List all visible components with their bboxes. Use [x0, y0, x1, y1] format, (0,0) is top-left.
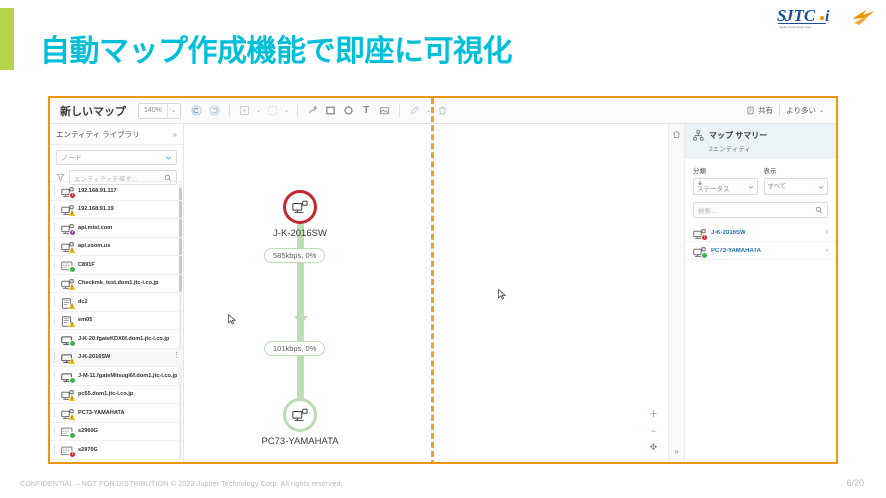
- drag-handle-icon[interactable]: [54, 242, 57, 251]
- chevron-down-icon: ⌄: [167, 104, 180, 118]
- pen-icon[interactable]: [407, 103, 422, 118]
- entity-library-title: エンティティ ライブラリ: [56, 129, 140, 140]
- entity-library-sidebar: エンティティ ライブラリ » ノード エンティティを探す... !192.168…: [50, 124, 184, 462]
- chevron-down-icon: [748, 184, 754, 190]
- text-icon[interactable]: T: [359, 103, 374, 118]
- share-button[interactable]: 共有: [740, 105, 779, 116]
- entity-list-item-label: dc2: [78, 299, 88, 305]
- entity-list-item[interactable]: 192.168.91.19: [50, 201, 183, 220]
- entity-list-item-label: C891F: [78, 262, 95, 268]
- drag-handle-icon[interactable]: [54, 205, 57, 214]
- computer-node-icon: [292, 200, 308, 215]
- entity-list-item[interactable]: s2960G: [50, 423, 183, 442]
- toolbar-divider: [229, 104, 230, 117]
- summary-rail: »: [668, 124, 684, 462]
- drag-handle-icon[interactable]: [54, 371, 57, 380]
- drag-handle-icon[interactable]: [54, 353, 57, 362]
- entity-type-value: ノード: [61, 153, 82, 163]
- map-summary-panel: マップ サマリー 2エンティティ 分類 ステータス 表示: [684, 124, 836, 462]
- map-summary-header: マップ サマリー 2エンティティ: [685, 124, 836, 159]
- chevron-down-icon: [818, 184, 824, 190]
- status-badge-green: [701, 252, 708, 259]
- drag-handle-icon[interactable]: [54, 186, 57, 195]
- entity-list-item[interactable]: C891F: [50, 256, 183, 275]
- summary-entity-label: J-K-2016SW: [711, 230, 821, 236]
- summary-entity-label: PC73-YAMAHATA: [711, 248, 821, 254]
- status-badge-warning: [68, 320, 76, 328]
- brand-logo: S JTC i Jupiter Technology Corp.: [776, 4, 876, 30]
- entity-list-item-label: J-M-11.fgateMitsugi6f.dom1.jtc-i.co.jp: [78, 373, 177, 379]
- toolbar-history-group: ⌄ ⌄ T: [189, 103, 450, 118]
- sort-select[interactable]: ステータス: [693, 178, 758, 195]
- zoom-in-button[interactable]: ＋: [647, 407, 660, 420]
- summary-search-placeholder: 検索...: [698, 205, 716, 215]
- entity-list-item-label: 192.168.91.19: [78, 206, 114, 212]
- entity-type-icon: ?: [61, 222, 74, 234]
- rectangle-icon[interactable]: [323, 103, 338, 118]
- entity-list-item[interactable]: ?api.mist.com: [50, 219, 183, 238]
- entity-type-icon: [61, 259, 74, 271]
- entity-type-icon: [61, 388, 74, 400]
- search-icon: [815, 206, 823, 214]
- collapse-panel-icon[interactable]: »: [173, 130, 177, 139]
- drag-handle-icon[interactable]: [54, 334, 57, 343]
- display-select[interactable]: すべて: [764, 178, 829, 195]
- status-badge-green: [69, 340, 76, 347]
- drag-handle-icon[interactable]: [54, 316, 57, 325]
- redo-icon[interactable]: [207, 103, 222, 118]
- title-accent-bar: [0, 8, 14, 70]
- toolbar-divider: [297, 104, 298, 117]
- status-badge-red: !: [69, 451, 76, 458]
- map-summary-icon: [693, 130, 704, 141]
- share-label: 共有: [758, 105, 773, 116]
- image-icon[interactable]: [377, 103, 392, 118]
- entity-list-item[interactable]: J-K-2016SW⋮: [50, 349, 183, 368]
- status-badge-warning: [68, 302, 76, 310]
- entity-list-item[interactable]: Checkmk_test.dom1.jtc-i.co.jp: [50, 275, 183, 294]
- sort-field: 分類 ステータス: [693, 165, 758, 195]
- status-badge-green: [69, 266, 76, 273]
- display-value: すべて: [768, 183, 787, 190]
- entity-type-icon: [61, 314, 74, 326]
- entity-list-item[interactable]: J-M-11.fgateMitsugi6f.dom1.jtc-i.co.jp: [50, 367, 183, 386]
- entity-list-item[interactable]: J-K-20.fgateKDX6f.dom1.jtc-i.co.jp: [50, 330, 183, 349]
- display-field: 表示 すべて: [764, 165, 829, 195]
- display-label: 表示: [764, 165, 829, 175]
- entity-list-item-label: s2970G: [78, 447, 98, 453]
- undo-icon[interactable]: [189, 103, 204, 118]
- share-icon: [746, 106, 755, 115]
- chevron-down-icon: [165, 154, 172, 161]
- entity-list-item[interactable]: !s2970G: [50, 441, 183, 460]
- align-icon[interactable]: [265, 103, 280, 118]
- connector-icon[interactable]: [305, 103, 320, 118]
- slide-split-divider: [431, 98, 434, 464]
- entity-list-item[interactable]: api.zoom.us: [50, 238, 183, 257]
- application-screenshot: 新しいマップ 140% ⌄ ⌄ ⌄: [48, 96, 838, 464]
- entity-type-icon: [693, 245, 706, 257]
- entity-type-icon: [61, 425, 74, 437]
- summary-search-input[interactable]: 検索...: [693, 202, 828, 218]
- entity-type-icon: [61, 351, 74, 363]
- entity-type-icon: [61, 277, 74, 289]
- mouse-cursor-icon: [498, 289, 507, 300]
- entity-type-icon: [61, 333, 74, 345]
- entity-list-item-label: PC73-YAMAHATA: [78, 410, 125, 416]
- entity-library-header: エンティティ ライブラリ »: [50, 124, 183, 145]
- status-badge-red: !: [69, 192, 76, 199]
- entity-list-item[interactable]: dc2: [50, 293, 183, 312]
- entity-list-item[interactable]: s3560G: [50, 460, 183, 463]
- map-zoom-controls: ＋ − ✥: [647, 407, 660, 454]
- zoom-level-value: 140%: [139, 107, 167, 114]
- zoom-level-select[interactable]: 140% ⌄: [138, 103, 181, 119]
- sort-value: ステータス: [697, 186, 730, 193]
- map-summary-filters: 分類 ステータス 表示 すべて: [685, 159, 836, 195]
- entity-type-icon: !: [61, 444, 74, 456]
- map-summary-title: マップ サマリー: [709, 130, 767, 141]
- more-menu-button[interactable]: より多い ⌄: [780, 105, 830, 116]
- summary-entity-list: !J-K-2016SW›PC73-YAMAHATA›: [685, 224, 836, 260]
- chevron-right-icon[interactable]: ›: [826, 247, 828, 254]
- svg-text:JTC: JTC: [784, 6, 816, 25]
- computer-node-icon: [292, 408, 308, 423]
- status-badge-warning: [68, 357, 76, 365]
- entity-list-item[interactable]: pc65.dom1.jtc-i.co.jp: [50, 386, 183, 405]
- drag-handle-icon[interactable]: [54, 297, 57, 306]
- entity-list[interactable]: !192.168.91.117192.168.91.19?api.mist.co…: [50, 181, 183, 462]
- chevron-down-icon[interactable]: ⌄: [283, 107, 290, 114]
- status-badge-green: [69, 377, 76, 384]
- entity-list-item-label: 192.168.91.117: [78, 188, 117, 194]
- jtc-i-logo-icon: S JTC i Jupiter Technology Corp.: [776, 4, 842, 30]
- status-badge-red: !: [701, 234, 708, 241]
- drag-handle-icon[interactable]: [54, 427, 57, 436]
- link-bandwidth-badge-top[interactable]: 585kbps, 0%: [264, 248, 325, 263]
- drag-handle-icon[interactable]: [54, 408, 57, 417]
- map-node-top-label: J-K-2016SW: [246, 228, 354, 239]
- entity-list-item[interactable]: !192.168.91.117: [50, 182, 183, 201]
- status-badge-warning: [68, 394, 76, 402]
- trash-icon[interactable]: [435, 103, 450, 118]
- layout-icon[interactable]: [237, 103, 252, 118]
- map-node-bottom-label: PC73-YAMAHATA: [232, 436, 368, 447]
- ellipse-icon[interactable]: [341, 103, 356, 118]
- entity-list-item-label: em05: [78, 317, 92, 323]
- status-badge-warning: [68, 246, 76, 254]
- entity-list-item-label: api.zoom.us: [78, 243, 110, 249]
- bird-logo-icon: [850, 6, 876, 28]
- status-badge-warning: [68, 209, 76, 217]
- map-name-label[interactable]: 新しいマップ: [60, 103, 126, 119]
- entity-type-icon: !: [693, 227, 706, 239]
- status-badge-purple: ?: [69, 229, 76, 236]
- entity-type-icon: !: [61, 185, 74, 197]
- entity-list-item[interactable]: PC73-YAMAHATA: [50, 404, 183, 423]
- link-direction-arrow-icon: [294, 316, 308, 325]
- svg-text:i: i: [825, 8, 830, 25]
- entity-list-item-label: s2960G: [78, 428, 98, 434]
- map-node-bottom[interactable]: [283, 398, 317, 432]
- svg-text:Jupiter Technology Corp.: Jupiter Technology Corp.: [779, 25, 812, 29]
- drag-handle-icon[interactable]: [54, 390, 57, 399]
- entity-type-select[interactable]: ノード: [56, 150, 177, 165]
- map-summary-subtitle: 2エンティティ: [709, 143, 767, 153]
- toolbar-divider: [399, 104, 400, 117]
- kebab-menu-icon[interactable]: ⋮: [173, 353, 180, 358]
- entity-list-item-label: Checkmk_test.dom1.jtc-i.co.jp: [78, 280, 159, 286]
- sort-label: 分類: [693, 165, 758, 175]
- entity-type-icon: [61, 203, 74, 215]
- map-node-top[interactable]: [283, 190, 317, 224]
- home-icon[interactable]: [672, 130, 681, 139]
- page-title: 自動マップ作成機能で即座に可視化: [40, 26, 512, 70]
- drag-handle-icon[interactable]: [54, 445, 57, 454]
- entity-list-item-label: pc65.dom1.jtc-i.co.jp: [78, 391, 133, 397]
- expand-panel-icon[interactable]: »: [674, 447, 678, 456]
- drag-handle-icon[interactable]: [54, 223, 57, 232]
- entity-type-icon: [61, 407, 74, 419]
- chevron-right-icon[interactable]: ›: [826, 229, 828, 236]
- map-canvas[interactable]: J-K-2016SW 585kbps, 0% 101kbps, 0% PC73-…: [184, 124, 668, 462]
- status-badge-green: [69, 432, 76, 439]
- app-toolbar: 新しいマップ 140% ⌄ ⌄ ⌄: [50, 98, 836, 124]
- status-badge-warning: [68, 413, 76, 421]
- page-number: 6/20: [846, 478, 864, 488]
- entity-list-item-label: api.mist.com: [78, 225, 112, 231]
- entity-list-item-label: J-K-20.fgateKDX6f.dom1.jtc-i.co.jp: [78, 336, 169, 342]
- more-label: より多い: [786, 105, 816, 116]
- status-badge-warning: [68, 283, 76, 291]
- entity-list-item[interactable]: em05: [50, 312, 183, 331]
- drag-handle-icon[interactable]: [54, 260, 57, 269]
- chevron-down-icon[interactable]: ⌄: [255, 107, 262, 114]
- footer-confidential-note: CONFIDENTIAL – NOT FOR DISTRIBUTION © 20…: [20, 481, 343, 488]
- zoom-out-button[interactable]: −: [647, 424, 660, 437]
- entity-list-item-label: J-K-2016SW: [78, 354, 110, 360]
- summary-entity-row[interactable]: PC73-YAMAHATA›: [685, 242, 836, 260]
- entity-type-icon: [61, 240, 74, 252]
- link-bandwidth-badge-bottom[interactable]: 101kbps, 0%: [264, 341, 325, 356]
- chevron-down-icon: ⌄: [819, 107, 824, 114]
- fit-to-screen-button[interactable]: ✥: [647, 441, 660, 454]
- drag-handle-icon[interactable]: [54, 279, 57, 288]
- slide-root: 自動マップ作成機能で即座に可視化 S JTC i Jupiter Technol…: [0, 0, 886, 498]
- entity-type-icon: [61, 370, 74, 382]
- entity-type-icon: [61, 296, 74, 308]
- summary-entity-row[interactable]: !J-K-2016SW›: [685, 224, 836, 242]
